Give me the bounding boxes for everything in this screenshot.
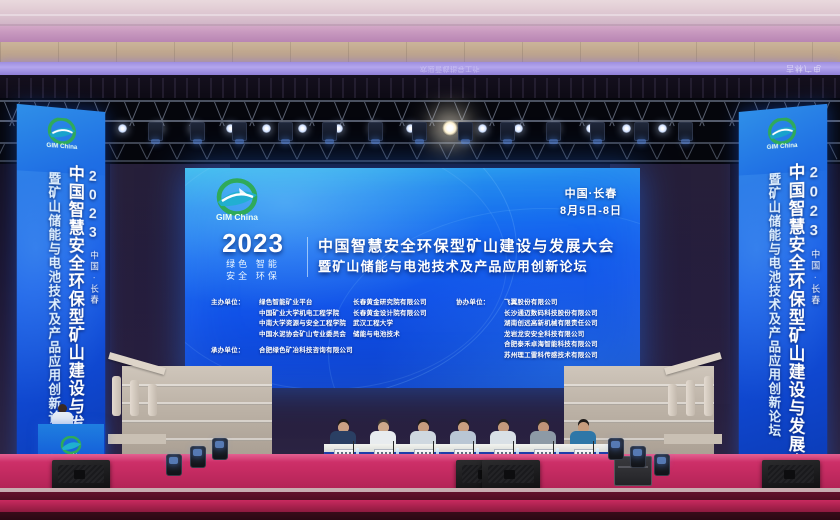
spotlight — [622, 124, 631, 133]
balustrade-post — [130, 380, 139, 416]
conference-stage-photo: 吉林广电 欢迎菅临指导工作 GIM China 2023 中国 — [0, 0, 840, 520]
host-col1-item: 绿色智能矿业平台 — [259, 298, 353, 309]
screen-title-line2: 暨矿山储能与电池技术及产品应用创新论坛 — [318, 258, 627, 276]
coorganizer-item: 飞翼股份有限公司 — [504, 298, 621, 309]
truss-diagonal — [357, 144, 365, 160]
truss-diagonal — [717, 144, 725, 160]
sponsor-hosts-column: 主办单位： 绿色智能矿业平台 长春黄金研究院有限公司 中国矿业大学机电工程学院 … — [211, 298, 456, 361]
truss-bar — [0, 160, 840, 162]
truss-diagonal — [249, 102, 260, 126]
truss-diagonal — [237, 144, 245, 160]
truss-diagonal — [699, 102, 710, 126]
sponsor-row: 中南大学资源与安全工程学院 武汉工程大学 — [211, 319, 456, 330]
sponsor-coorganizers-column: 协办单位： 飞翼股份有限公司 长沙通迈数码科技股份有限公司 湖南创远高新机械有限… — [456, 298, 621, 361]
banner-left-logo: GIM China — [41, 116, 83, 156]
screen-title-line1: 中国智慧安全环保型矿山建设与发展大会 — [318, 237, 627, 257]
table-microphone — [433, 441, 434, 454]
truss-diagonal — [327, 144, 335, 160]
screen-slogan-line1: 绿色 智能 — [207, 259, 299, 271]
truss-diagonal — [687, 144, 695, 160]
host-col2-item: 武汉工程大学 — [353, 319, 456, 330]
balustrade-rail — [664, 352, 722, 375]
balustrade-post — [148, 384, 157, 416]
gim-china-logo-icon: GIM China — [209, 178, 265, 224]
svg-text:GIM China: GIM China — [46, 142, 77, 151]
coorganizer-label: 协办单位： — [456, 298, 504, 309]
spotlight — [298, 124, 307, 133]
screen-dates: 8月5日-8日 — [560, 203, 622, 220]
truss-diagonal — [177, 144, 185, 160]
host-label-spacer — [211, 309, 259, 320]
host-label-spacer — [211, 330, 259, 341]
coorganizer-item: 长沙通迈数码科技股份有限公司 — [456, 309, 621, 320]
banner-right-text-columns: 2023 中国·长春 中国智慧安全环保型矿山建设与发展大会 暨矿山储能与电池技术… — [739, 161, 827, 468]
main-led-screen: GIM China 中国·长春 8月5日-8日 2023 绿色 智能 安全 环保… — [185, 168, 640, 388]
moving-head-light — [678, 122, 693, 141]
balustrade-post — [112, 376, 121, 416]
banner-left-location: 中国·长春 — [89, 251, 97, 306]
screen-year-block: 2023 绿色 智能 安全 环保 — [207, 230, 307, 283]
banner-right: GIM China 2023 中国·长春 中国智慧安全环保型矿山建设与发展大会 … — [739, 104, 827, 472]
table-microphone — [353, 441, 354, 454]
balustrade-post — [704, 376, 713, 416]
stage-moving-head-light — [654, 454, 670, 476]
truss-diagonal — [477, 144, 485, 160]
truss-diagonal — [0, 144, 5, 160]
screen-year: 2023 — [207, 230, 299, 256]
moving-head-light — [546, 122, 561, 141]
screen-slogan: 绿色 智能 安全 环保 — [207, 259, 299, 283]
spotlight-highlight — [442, 120, 458, 136]
moving-head-light — [634, 122, 649, 141]
truss-diagonal — [309, 102, 320, 126]
truss-diagonal — [417, 144, 425, 160]
truss-diagonal — [387, 144, 395, 160]
balustrade-base — [108, 434, 166, 444]
sponsor-row: 中国矿业大学机电工程学院 长春黄金设计院有限公司 — [211, 309, 456, 320]
screen-logo: GIM China — [207, 178, 267, 229]
sponsor-row: 承办单位： 合肥绿色矿冶科技咨询有限公司 — [211, 346, 456, 357]
host-label: 主办单位： — [211, 298, 259, 309]
spotlight — [514, 124, 523, 133]
svg-text:GIM China: GIM China — [767, 142, 798, 151]
table-microphone — [593, 441, 594, 454]
truss-diagonal — [297, 144, 305, 160]
svg-text:GIM China: GIM China — [216, 212, 258, 222]
sponsor-row: 中国水泥协会矿山专业委员会 储能与电池技术 — [211, 330, 456, 341]
stage-monitor-speaker — [762, 460, 820, 490]
truss-diagonal — [609, 102, 620, 126]
led-strip-text-right: 吉林广电 — [786, 63, 822, 74]
truss-diagonal — [627, 144, 635, 160]
stage-moving-head-light — [212, 438, 228, 460]
table-microphone — [553, 441, 554, 454]
moving-head-light — [278, 122, 293, 141]
balustrade-base — [664, 434, 722, 444]
screen-date-block: 中国·长春 8月5日-8日 — [560, 186, 622, 220]
host-col1-item: 中国矿业大学机电工程学院 — [259, 309, 353, 320]
truss-diagonal — [579, 102, 590, 126]
spotlight — [262, 124, 271, 133]
ceiling — [0, 0, 840, 42]
spotlight — [118, 124, 127, 133]
truss-diagonal — [447, 144, 455, 160]
ceiling-led-strip: 吉林广电 欢迎菅临指导工作 — [0, 62, 840, 75]
truss-diagonal — [117, 144, 125, 160]
stage-moving-head-light — [608, 438, 624, 460]
carpet-highlight — [0, 454, 840, 462]
truss-diagonal — [519, 102, 530, 126]
table-microphone — [473, 441, 474, 454]
screen-titles: 中国智慧安全环保型矿山建设与发展大会 暨矿山储能与电池技术及产品应用创新论坛 — [318, 237, 627, 275]
banner-right-year: 2023 — [806, 164, 821, 242]
moving-head-light — [232, 122, 247, 141]
table-microphone — [513, 441, 514, 454]
moving-head-light — [148, 122, 163, 141]
coorganizer-item: 龙岩龙安安全科技有限公司 — [456, 330, 621, 341]
truss-diagonal — [537, 144, 545, 160]
sponsor-row: 主办单位： 绿色智能矿业平台 长春黄金研究院有限公司 — [211, 298, 456, 309]
banner-right-title-line2: 暨矿山储能与电池技术及产品应用创新论坛 — [768, 172, 780, 438]
screen-title-divider — [307, 237, 308, 277]
truss-diagonal — [429, 102, 440, 126]
truss-diagonal — [129, 102, 140, 126]
balustrade-rail — [108, 352, 166, 375]
banner-left-title-line2: 暨矿山储能与电池技术及产品应用创新论坛 — [47, 171, 60, 439]
front-carpet-strip — [0, 500, 840, 512]
ceiling-molding-line — [0, 14, 840, 16]
coorganizer-item: 湖南创远高新机械有限责任公司 — [456, 319, 621, 330]
host-col2-item: 长春黄金设计院有限公司 — [353, 309, 456, 320]
banner-right-title-line1: 中国智慧安全环保型矿山建设与发展大会 — [787, 163, 804, 473]
truss-diagonal — [399, 102, 410, 126]
truss-diagonal — [207, 144, 215, 160]
balustrade-post — [686, 380, 695, 416]
truss-diagonal — [267, 144, 275, 160]
gim-china-logo-icon: GIM China — [43, 116, 81, 151]
moving-head-light — [322, 122, 337, 141]
coorganizer-item: 苏州理工雷科传感技术有限公司 — [456, 351, 621, 362]
stage-moving-head-light — [190, 446, 206, 468]
moving-head-light — [190, 122, 205, 141]
moving-head-light — [590, 122, 605, 141]
host-col1-item: 中国水泥协会矿山专业委员会 — [259, 330, 353, 341]
spotlight — [658, 124, 667, 133]
gim-china-logo-icon: GIM China — [763, 116, 801, 151]
truss-diagonal — [489, 102, 500, 126]
screen-slogan-line2: 安全 环保 — [207, 271, 299, 283]
screen-title-row: 2023 绿色 智能 安全 环保 中国智慧安全环保型矿山建设与发展大会 暨矿山储… — [207, 230, 627, 283]
truss-diagonal — [597, 144, 605, 160]
host-col2-item: 长春黄金研究院有限公司 — [353, 298, 456, 309]
stage-edge-trim — [0, 488, 840, 492]
organizer-name: 合肥绿色矿冶科技咨询有限公司 — [259, 346, 456, 357]
screen-sponsor-block: 主办单位： 绿色智能矿业平台 长春黄金研究院有限公司 中国矿业大学机电工程学院 … — [211, 298, 621, 361]
banner-right-logo: GIM China — [761, 116, 803, 156]
host-col1-item: 中南大学资源与安全工程学院 — [259, 319, 353, 330]
moving-head-light — [412, 122, 427, 141]
coorganizer-item: 合肥泰禾卓海智能科技有限公司 — [456, 340, 621, 351]
banner-right-location: 中国·长春 — [810, 249, 819, 306]
spotlight — [478, 124, 487, 133]
host-col2-item: 储能与电池技术 — [353, 330, 456, 341]
led-strip-text-center: 欢迎菅临指导工作 — [420, 64, 480, 74]
stage-moving-head-light — [630, 446, 646, 468]
truss-diagonal — [147, 144, 155, 160]
balustrade-post — [668, 384, 677, 416]
lighting-truss — [0, 98, 840, 164]
stage-monitor-speaker — [482, 460, 540, 490]
organizer-label: 承办单位： — [211, 346, 259, 357]
stone-wall-band — [0, 42, 840, 62]
truss-diagonal — [657, 144, 665, 160]
truss-diagonal — [507, 144, 515, 160]
truss-diagonal — [567, 144, 575, 160]
moving-head-light — [458, 122, 473, 141]
truss-bar — [0, 100, 840, 102]
truss-diagonal — [339, 102, 350, 126]
banner-left-year: 2023 — [86, 167, 100, 242]
stage-monitor-speaker — [52, 460, 110, 490]
moving-head-light — [368, 122, 383, 141]
stage-moving-head-light — [166, 454, 182, 476]
truss-diagonal — [829, 144, 837, 160]
table-microphone — [393, 441, 394, 454]
screen-location: 中国·长春 — [560, 186, 622, 203]
host-label-spacer — [211, 319, 259, 330]
sponsor-row: 协办单位： 飞翼股份有限公司 — [456, 298, 621, 309]
moving-head-light — [500, 122, 515, 141]
balustrade-left — [108, 352, 166, 444]
truss-diagonal — [219, 102, 230, 126]
balustrade-right — [664, 352, 722, 444]
